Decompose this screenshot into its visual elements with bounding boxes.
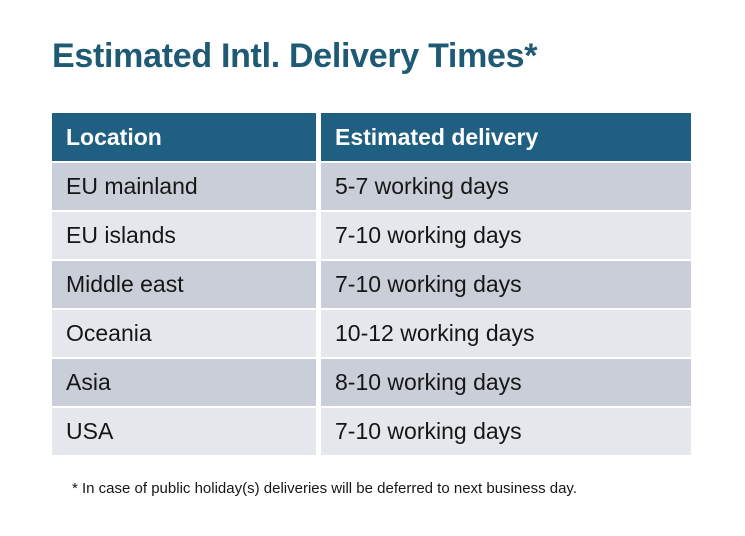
cell-location: EU islands [52, 212, 316, 259]
cell-estimated-delivery: 5-7 working days [321, 163, 691, 210]
table-row: EU islands 7-10 working days [52, 212, 691, 259]
column-header-estimated-delivery: Estimated delivery [321, 113, 691, 161]
cell-location: Middle east [52, 261, 316, 308]
table-header-row: Location Estimated delivery [52, 113, 691, 161]
page-title: Estimated Intl. Delivery Times* [52, 36, 537, 77]
cell-estimated-delivery: 8-10 working days [321, 359, 691, 406]
table-row: Asia 8-10 working days [52, 359, 691, 406]
table-row: Middle east 7-10 working days [52, 261, 691, 308]
delivery-times-table: Location Estimated delivery EU mainland … [52, 113, 691, 455]
cell-estimated-delivery: 7-10 working days [321, 408, 691, 455]
cell-estimated-delivery: 7-10 working days [321, 261, 691, 308]
table-row: USA 7-10 working days [52, 408, 691, 455]
cell-location: Oceania [52, 310, 316, 357]
footnote-text: * In case of public holiday(s) deliverie… [72, 478, 577, 499]
delivery-times-document: Estimated Intl. Delivery Times* Location… [0, 0, 745, 536]
column-header-location: Location [52, 113, 316, 161]
cell-estimated-delivery: 10-12 working days [321, 310, 691, 357]
table-row: Oceania 10-12 working days [52, 310, 691, 357]
cell-estimated-delivery: 7-10 working days [321, 212, 691, 259]
table-row: EU mainland 5-7 working days [52, 163, 691, 210]
cell-location: USA [52, 408, 316, 455]
cell-location: EU mainland [52, 163, 316, 210]
cell-location: Asia [52, 359, 316, 406]
